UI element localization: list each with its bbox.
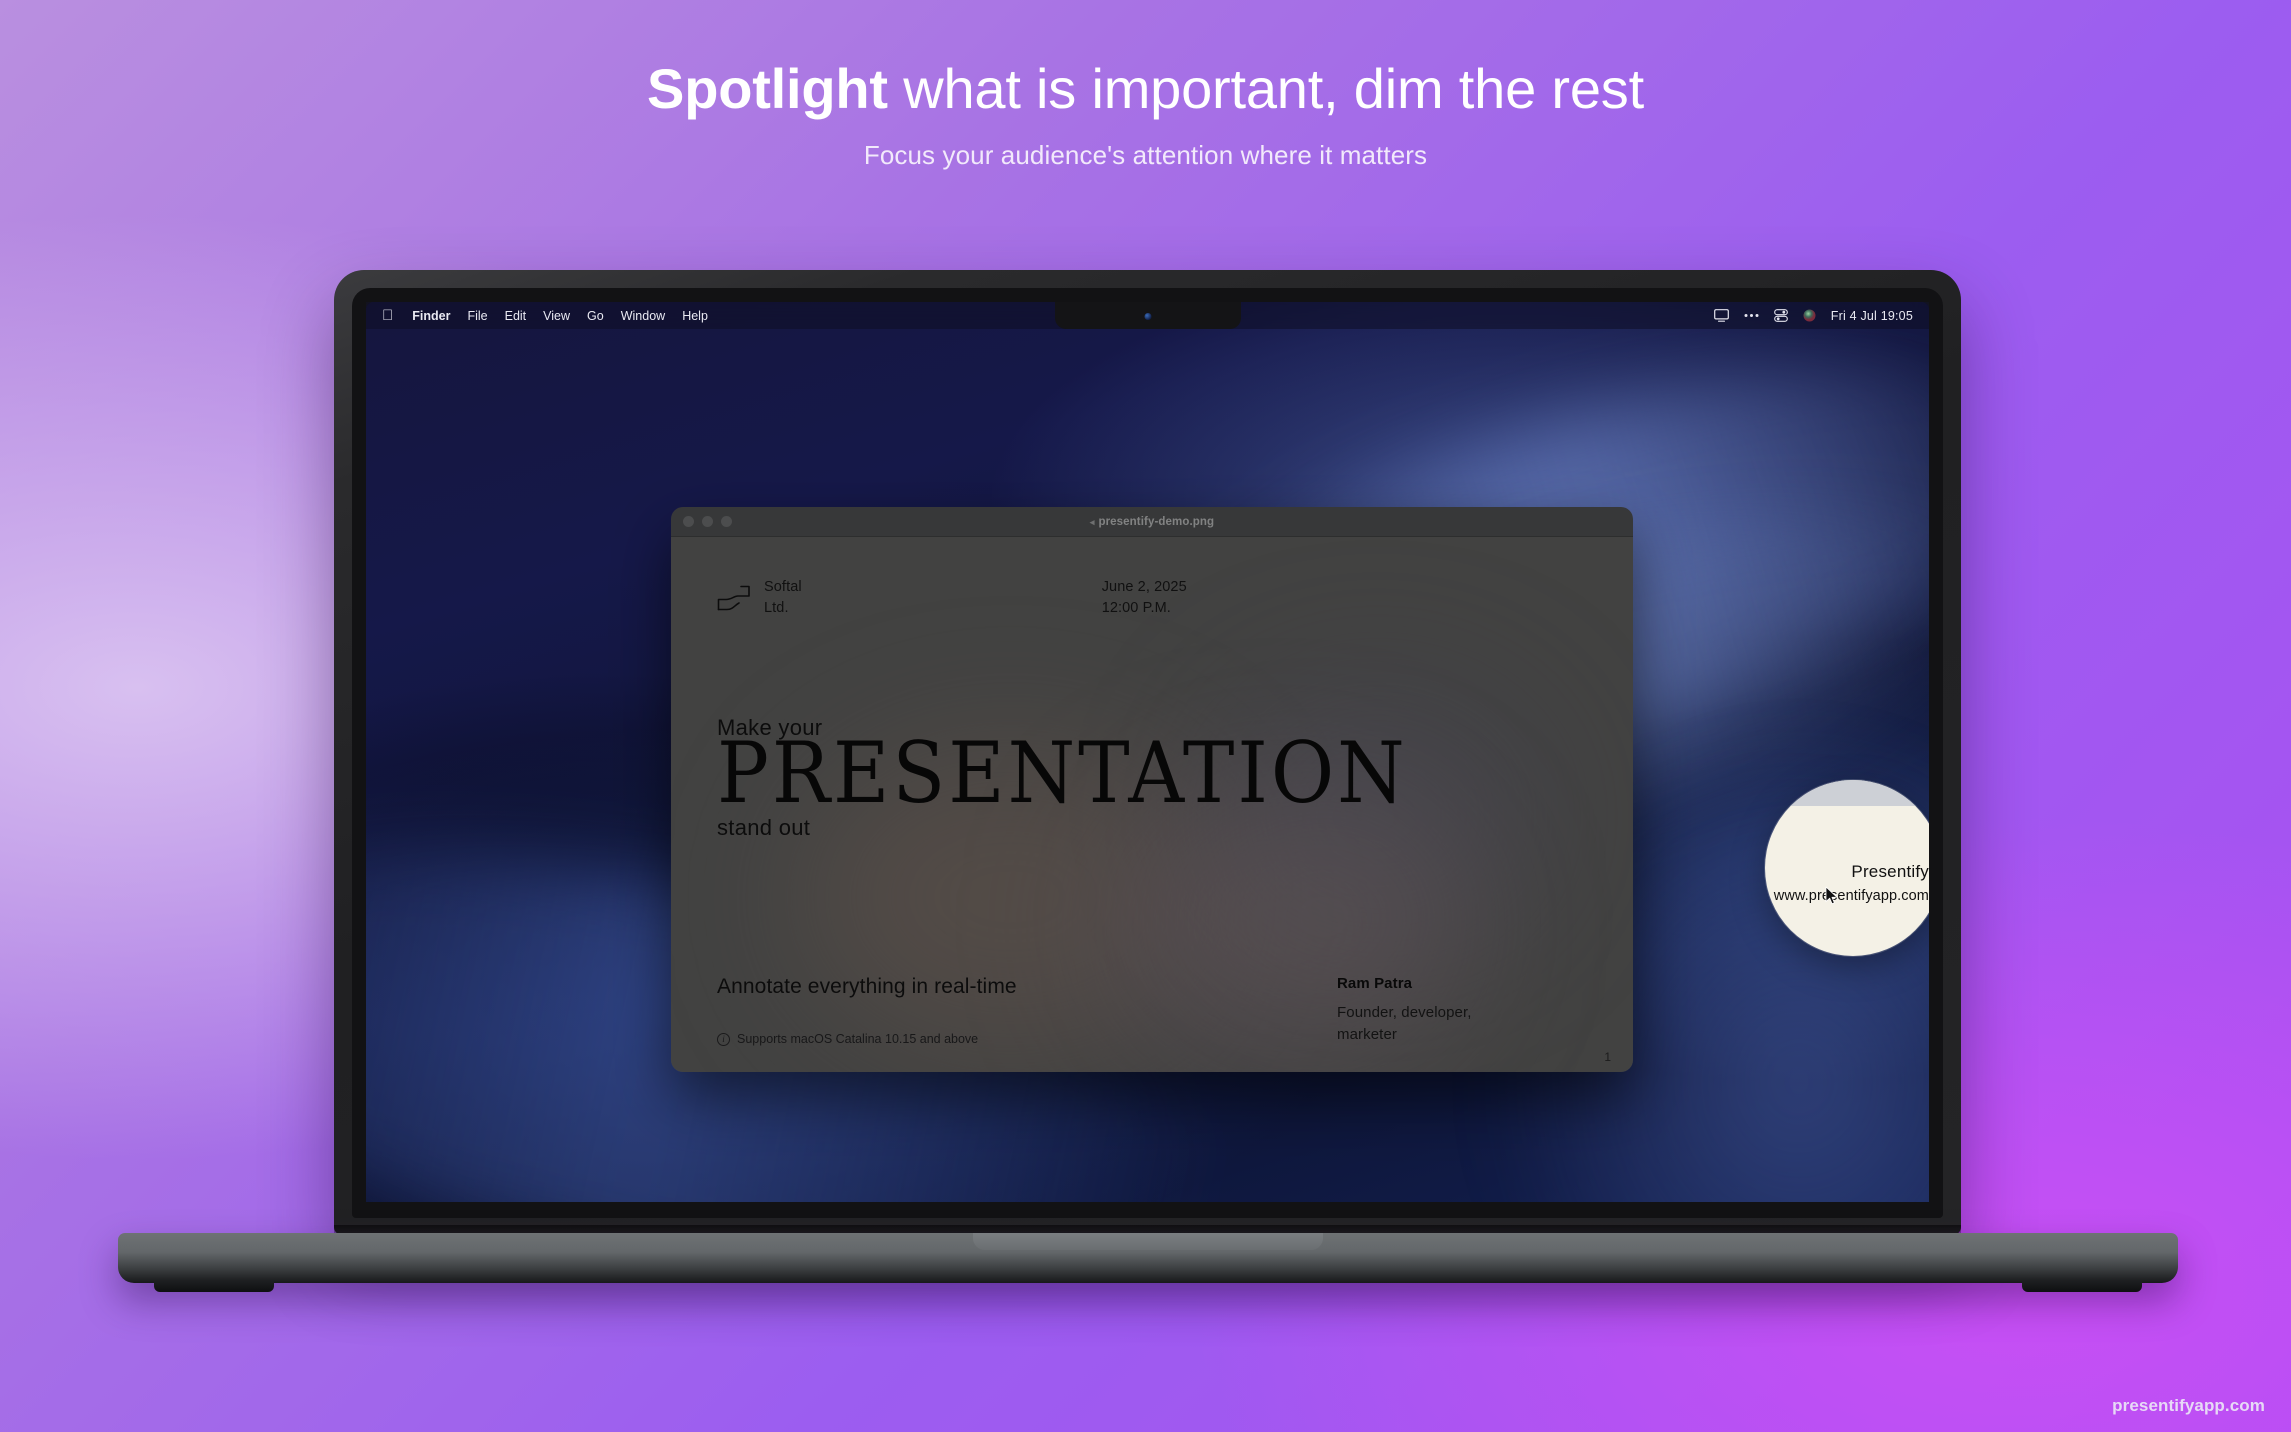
apple-logo-icon[interactable]:  xyxy=(382,308,393,323)
spotlight-title: Presentify xyxy=(1765,862,1929,882)
menu-item-finder[interactable]: Finder xyxy=(412,309,450,323)
slide-headline: Make your PRESENTATION stand out xyxy=(717,715,1415,841)
page-subtitle: Focus your audience's attention where it… xyxy=(0,140,2291,171)
menu-item-go[interactable]: Go xyxy=(587,309,604,323)
brand-name-line2: Ltd. xyxy=(764,600,789,616)
laptop-base-groove xyxy=(973,1233,1323,1250)
support-note-text: Supports macOS Catalina 10.15 and above xyxy=(737,1032,978,1046)
s-curve-logo-icon xyxy=(717,585,751,611)
brand-name: SoftalLtd. xyxy=(764,577,802,618)
window-title-text: presentify-demo.png xyxy=(1098,516,1214,528)
brand-name-line1: Softal xyxy=(764,579,802,595)
menubar-status-group: Fri 4 Jul 19:05 xyxy=(1714,309,1913,323)
slide-footer-left: Annotate everything in real-time i Suppo… xyxy=(717,975,1337,1046)
support-note: i Supports macOS Catalina 10.15 and abov… xyxy=(717,1032,1337,1046)
menu-item-file[interactable]: File xyxy=(467,309,487,323)
close-button[interactable] xyxy=(683,516,694,527)
slide-tagline: Annotate everything in real-time xyxy=(717,975,1337,999)
slide-time: 12:00 P.M. xyxy=(1102,600,1171,616)
window-titlebar[interactable]: ◂presentify-demo.png xyxy=(671,507,1633,537)
macbook-mockup:  Finder File Edit View Go Window Help xyxy=(334,270,1961,1300)
cursor-arrow-icon xyxy=(1825,886,1838,905)
slide-header: SoftalLtd. June 2, 202512:00 P.M. xyxy=(717,577,1587,620)
spotlight-url: www.presentifyapp.com xyxy=(1765,888,1929,904)
brand-block: SoftalLtd. xyxy=(717,577,802,618)
slide-page-number: 1 xyxy=(1604,1050,1611,1064)
laptop-foot-right xyxy=(2022,1281,2142,1292)
menu-item-edit[interactable]: Edit xyxy=(505,309,527,323)
slide-footer-right: Ram Patra Founder, developer,marketer xyxy=(1337,975,1587,1046)
slide-canvas: SoftalLtd. June 2, 202512:00 P.M. Make y… xyxy=(671,537,1633,1072)
spotlight-titlebar-slice xyxy=(1765,780,1929,806)
slide-meta: June 2, 202512:00 P.M. xyxy=(1102,577,1187,620)
headline-rest: what is important, dim the rest xyxy=(888,57,1644,120)
slide-big-word: PRESENTATION xyxy=(717,732,1408,816)
laptop-bezel:  Finder File Edit View Go Window Help xyxy=(352,288,1943,1218)
headline-emphasis: Spotlight xyxy=(647,57,888,120)
laptop-base xyxy=(118,1233,2178,1283)
chevron-left-icon: ◂ xyxy=(1090,517,1095,527)
author-role: Founder, developer,marketer xyxy=(1337,1002,1587,1046)
spotlight-content: Presentify www.presentifyapp.com xyxy=(1765,862,1929,904)
author-name: Ram Patra xyxy=(1337,975,1587,992)
preview-window[interactable]: ◂presentify-demo.png xyxy=(671,507,1633,1072)
footer-watermark: presentifyapp.com xyxy=(2112,1396,2265,1416)
traffic-light-group[interactable] xyxy=(683,516,732,527)
screen-mirroring-icon[interactable] xyxy=(1714,309,1729,322)
display-notch xyxy=(1055,302,1241,329)
menu-item-window[interactable]: Window xyxy=(621,309,665,323)
marketing-header: Spotlight what is important, dim the res… xyxy=(0,58,2291,171)
menu-item-help[interactable]: Help xyxy=(682,309,708,323)
menu-item-view[interactable]: View xyxy=(543,309,570,323)
slide-date: June 2, 2025 xyxy=(1102,579,1187,595)
zoom-button[interactable] xyxy=(721,516,732,527)
page-title: Spotlight what is important, dim the res… xyxy=(0,58,2291,121)
spotlight-circle[interactable]: Presentify www.presentifyapp.com xyxy=(1765,780,1929,956)
author-role-line1: Founder, developer, xyxy=(1337,1004,1472,1021)
author-role-line2: marketer xyxy=(1337,1026,1397,1043)
laptop-lid:  Finder File Edit View Go Window Help xyxy=(334,270,1961,1235)
toggle-switch-icon[interactable] xyxy=(1774,309,1788,322)
laptop-screen:  Finder File Edit View Go Window Help xyxy=(366,302,1929,1202)
menubar-left-group:  Finder File Edit View Go Window Help xyxy=(382,308,708,323)
menubar-clock[interactable]: Fri 4 Jul 19:05 xyxy=(1831,309,1913,323)
control-center-icon[interactable] xyxy=(1744,313,1759,318)
camera-icon xyxy=(1144,313,1151,320)
user-avatar-dot-icon[interactable] xyxy=(1803,309,1816,322)
window-title: ◂presentify-demo.png xyxy=(671,516,1633,528)
laptop-foot-left xyxy=(154,1281,274,1292)
info-icon: i xyxy=(717,1033,730,1046)
marketing-page: Spotlight what is important, dim the res… xyxy=(0,0,2291,1432)
slide-content: SoftalLtd. June 2, 202512:00 P.M. Make y… xyxy=(671,537,1633,1072)
minimize-button[interactable] xyxy=(702,516,713,527)
slide-footer: Annotate everything in real-time i Suppo… xyxy=(717,975,1587,1046)
